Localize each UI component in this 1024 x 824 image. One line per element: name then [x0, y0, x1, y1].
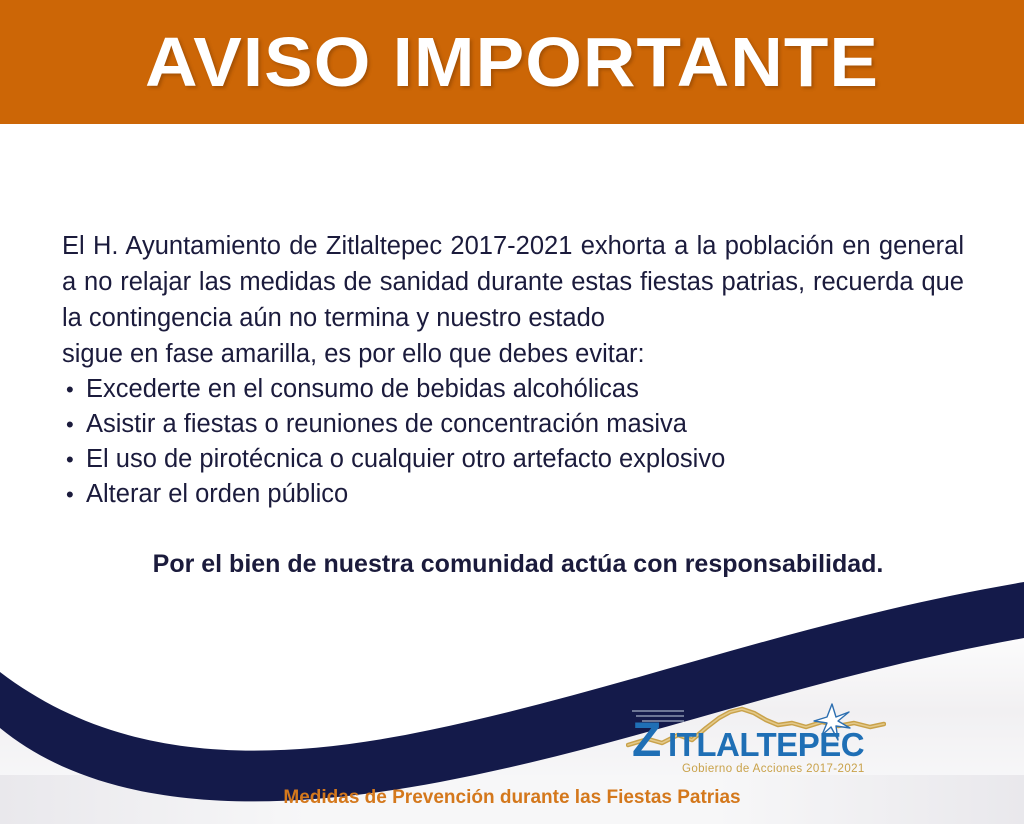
intro-paragraph: El H. Ayuntamiento de Zitlaltepec 2017-2…: [62, 228, 964, 372]
logo-initial: Z: [632, 714, 661, 767]
intro-paragraph-text: El H. Ayuntamiento de Zitlaltepec 2017-2…: [62, 232, 964, 332]
poster-canvas: AVISO IMPORTANTE El H. Ayuntamiento de Z…: [0, 0, 1024, 824]
logo-wordmark: ITLALTEPEC: [668, 726, 864, 763]
body-area: El H. Ayuntamiento de Zitlaltepec 2017-2…: [0, 124, 1024, 624]
page-title: AVISO IMPORTANTE: [0, 0, 1024, 124]
logo-tagline: Gobierno de Acciones 2017-2021: [682, 763, 865, 775]
footer-caption: Medidas de Prevención durante las Fiesta…: [0, 787, 1024, 809]
avoid-list: Excederte en el consumo de bebidas alcoh…: [66, 372, 966, 512]
list-item: Excederte en el consumo de bebidas alcoh…: [66, 372, 966, 407]
wave-decoration: [0, 560, 1024, 824]
list-item: Asistir a fiestas o reuniones de concent…: [66, 407, 966, 442]
zitlaltepec-logo: Z ITLALTEPEC Gobierno de Acciones 2017-2…: [626, 698, 886, 776]
list-item: El uso de pirotécnica o cualquier otro a…: [66, 442, 966, 477]
bottom-decoration-area: [0, 560, 1024, 824]
intro-paragraph-lastline: sigue en fase amarilla, es por ello que …: [62, 336, 964, 372]
logo-graphic: Z ITLALTEPEC Gobierno de Acciones 2017-2…: [626, 698, 886, 776]
list-item: Alterar el orden público: [66, 477, 966, 512]
